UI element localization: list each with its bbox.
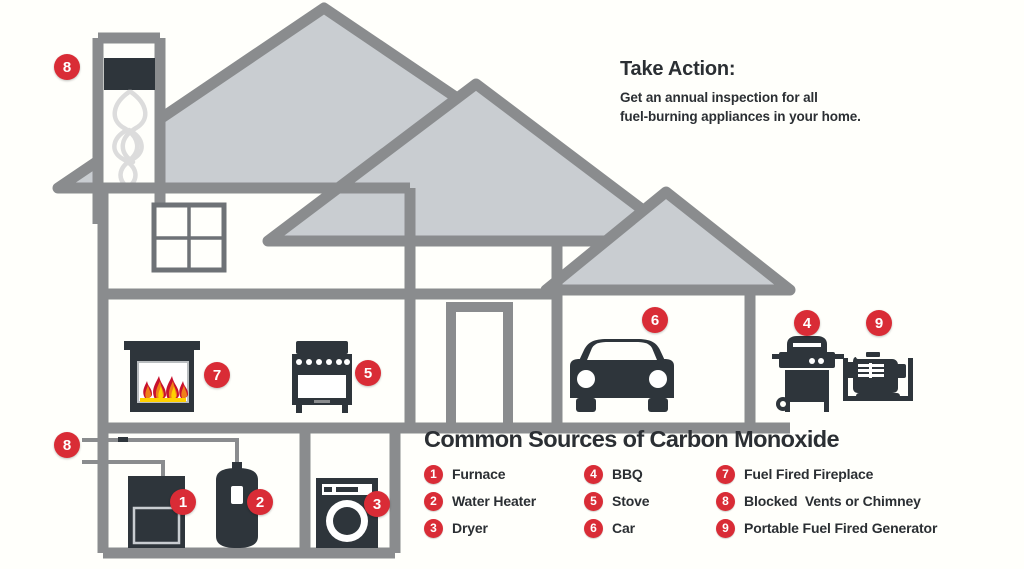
legend-label-6: Car <box>612 520 635 536</box>
marker-generator: 9 <box>866 310 892 336</box>
marker-water-heater: 2 <box>247 489 273 515</box>
legend-badge-1: 1 <box>424 465 443 484</box>
marker-furnace: 1 <box>170 489 196 515</box>
legend-badge-4: 4 <box>584 465 603 484</box>
marker-chimney-blockage: 8 <box>54 54 80 80</box>
legend-item-water-heater: 2 Water Heater <box>424 488 584 515</box>
vent-pipe-joint <box>118 437 128 442</box>
legend-badge-8: 8 <box>716 492 735 511</box>
legend-label-7: Fuel Fired Fireplace <box>744 466 873 482</box>
legend-columns: 1 Furnace 2 Water Heater 3 Dryer 4 BBQ <box>424 461 984 542</box>
marker-fireplace: 7 <box>204 362 230 388</box>
legend-badge-6: 6 <box>584 519 603 538</box>
marker-stove: 5 <box>355 360 381 386</box>
legend-label-2: Water Heater <box>452 493 536 509</box>
legend-item-fireplace: 7 Fuel Fired Fireplace <box>716 461 984 488</box>
legend-label-4: BBQ <box>612 466 643 482</box>
stove-icon <box>292 341 352 413</box>
legend-item-car: 6 Car <box>584 515 716 542</box>
legend-badge-5: 5 <box>584 492 603 511</box>
legend-item-bbq: 4 BBQ <box>584 461 716 488</box>
chimney-blockage-block <box>104 58 155 90</box>
legend-label-5: Stove <box>612 493 649 509</box>
legend-title: Common Sources of Carbon Monoxide <box>424 428 984 452</box>
legend-column-3: 7 Fuel Fired Fireplace 8 Blocked Vents o… <box>716 461 984 542</box>
legend-item-generator: 9 Portable Fuel Fired Generator <box>716 515 984 542</box>
take-action-title: Take Action: <box>620 58 960 80</box>
legend-badge-9: 9 <box>716 519 735 538</box>
legend-label-9: Portable Fuel Fired Generator <box>744 520 937 536</box>
marker-car: 6 <box>642 307 668 333</box>
take-action-callout: Take Action: Get an annual inspection fo… <box>620 58 960 126</box>
marker-dryer: 3 <box>364 491 390 517</box>
marker-bbq: 4 <box>794 310 820 336</box>
legend-item-dryer: 3 Dryer <box>424 515 584 542</box>
legend-label-3: Dryer <box>452 520 488 536</box>
legend-column-2: 4 BBQ 5 Stove 6 Car <box>584 461 716 542</box>
legend-badge-7: 7 <box>716 465 735 484</box>
legend-column-1: 1 Furnace 2 Water Heater 3 Dryer <box>424 461 584 542</box>
take-action-body: Get an annual inspection for all fuel-bu… <box>620 88 960 126</box>
legend-badge-2: 2 <box>424 492 443 511</box>
legend-badge-3: 3 <box>424 519 443 538</box>
take-action-line-2: fuel-burning appliances in your home. <box>620 109 861 124</box>
legend-label-1: Furnace <box>452 466 505 482</box>
legend-item-stove: 5 Stove <box>584 488 716 515</box>
legend-label-8: Blocked Vents or Chimney <box>744 493 921 509</box>
infographic-canvas: Take Action: Get an annual inspection fo… <box>0 0 1024 569</box>
marker-basement-vents: 8 <box>54 432 80 458</box>
legend-item-furnace: 1 Furnace <box>424 461 584 488</box>
legend: Common Sources of Carbon Monoxide 1 Furn… <box>424 428 984 542</box>
fireplace-icon <box>124 341 200 412</box>
upper-window <box>154 205 224 270</box>
take-action-line-1: Get an annual inspection for all <box>620 90 818 105</box>
legend-item-blocked-vents: 8 Blocked Vents or Chimney <box>716 488 984 515</box>
